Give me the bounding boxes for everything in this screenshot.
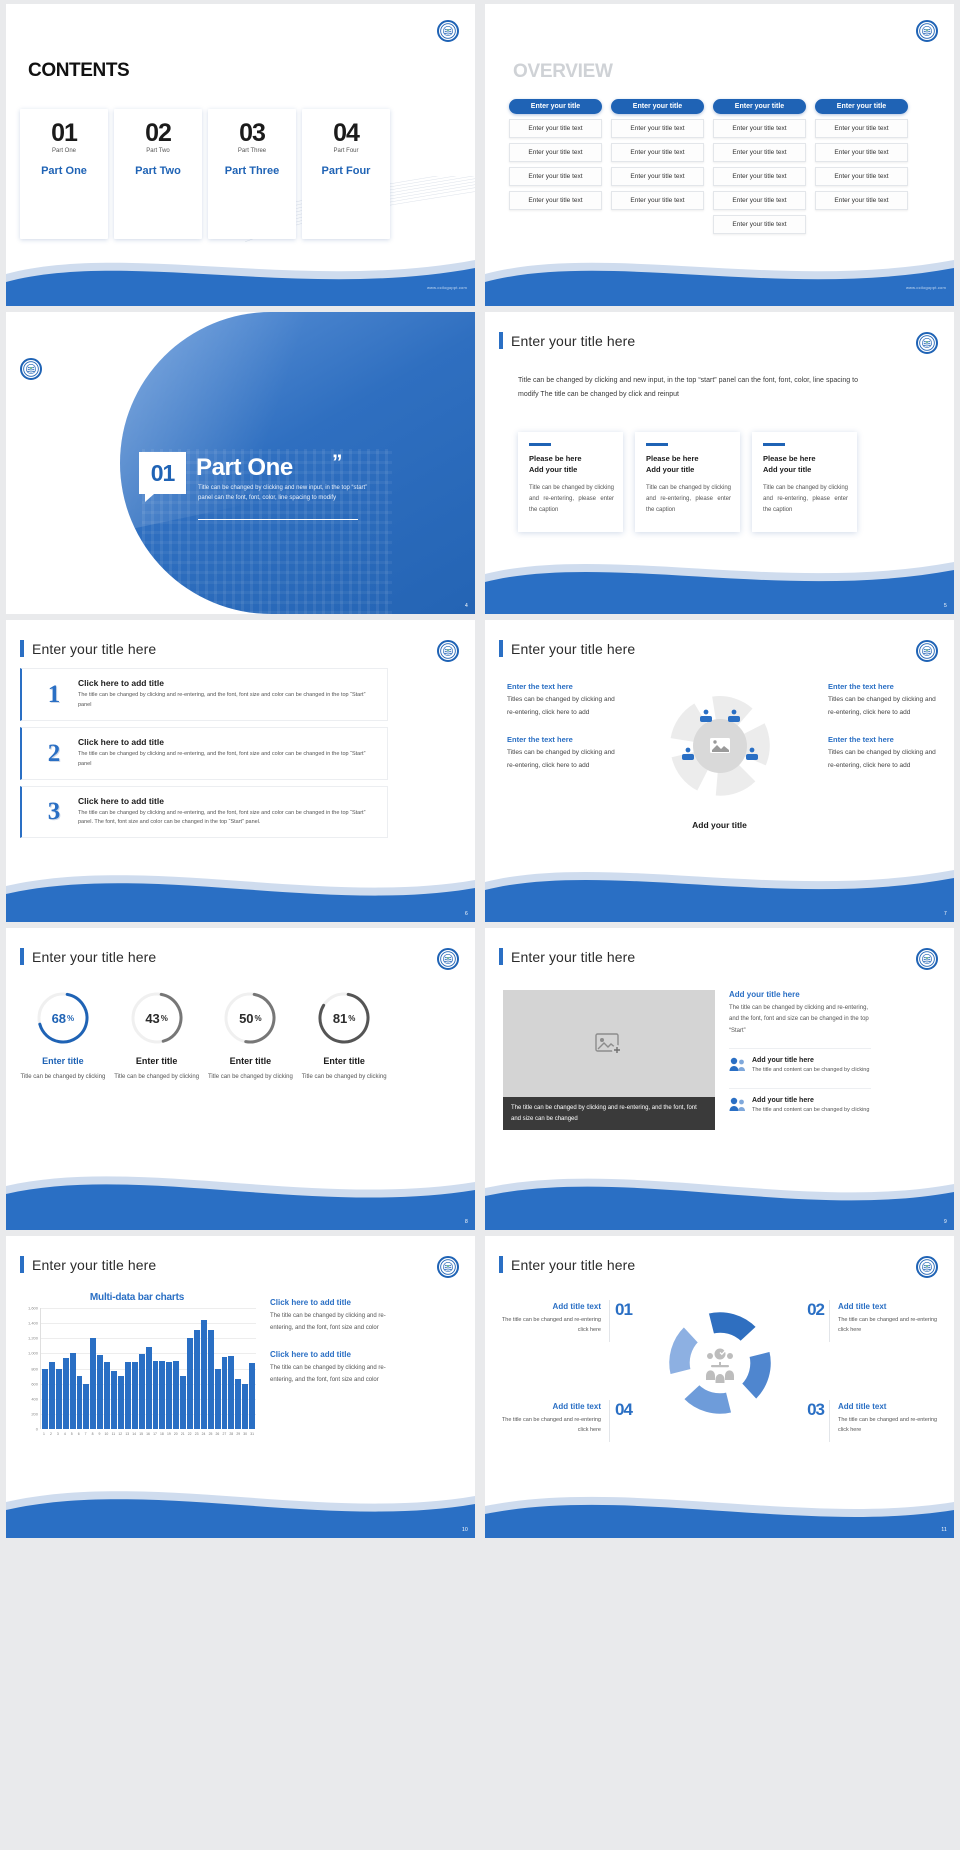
item-number: 3 <box>30 799 78 824</box>
x-tick-label: 14 <box>131 1430 137 1443</box>
card-accent-bar <box>763 443 785 446</box>
page-title: Enter your title here <box>511 641 635 657</box>
cycle-diagram[interactable]: Add title text Add title text Add title … <box>649 1292 791 1434</box>
panel-body: The title can be changed by clicking and… <box>270 1311 390 1334</box>
overview-box[interactable]: Enter your title text <box>611 167 704 186</box>
card-heading-line2: Add your title <box>529 465 577 474</box>
slide-title: Enter your title here <box>499 948 635 965</box>
org-logo-icon <box>437 640 459 662</box>
page-title: Enter your title here <box>511 333 635 349</box>
ring-label: Enter title <box>204 1056 298 1066</box>
quadrant-01-number: 01 <box>615 1300 632 1320</box>
y-tick-label: 1,200 <box>28 1336 38 1341</box>
column-title-pill[interactable]: Enter your title <box>611 99 704 114</box>
org-logo-icon <box>437 20 459 42</box>
list-item[interactable]: 1 Click here to add title The title can … <box>20 668 388 721</box>
page-number: 4 <box>465 603 468 609</box>
card-heading-line1: Please be here <box>646 454 699 463</box>
image-caption: The title can be changed by clicking and… <box>503 1097 715 1130</box>
column-title-pill[interactable]: Enter your title <box>713 99 806 114</box>
overview-box[interactable]: Enter your title text <box>611 119 704 138</box>
feature-card[interactable]: Please be hereAdd your title Title can b… <box>752 432 857 532</box>
wave-decoration <box>485 860 954 922</box>
title-accent-bar <box>499 948 503 965</box>
x-tick-label: 8 <box>90 1430 96 1443</box>
x-tick-label: 5 <box>69 1430 75 1443</box>
card-heading-line1: Please be here <box>763 454 816 463</box>
slide-title: Enter your title here <box>20 640 156 657</box>
card-body: Title can be changed by clicking and re-… <box>529 483 614 516</box>
chart-bar <box>56 1369 62 1430</box>
panel-body: The title can be changed by clicking and… <box>270 1363 390 1386</box>
wave-decoration <box>485 1476 954 1538</box>
card-number: 04 <box>333 121 359 146</box>
list-item[interactable]: 2 Click here to add title The title can … <box>20 727 388 780</box>
chart-x-axis: 1234567891011121314151617181920212223242… <box>40 1430 256 1443</box>
card-subtitle: Part One <box>52 148 76 154</box>
chart-bar <box>139 1354 145 1429</box>
x-tick-label: 10 <box>103 1430 109 1443</box>
chart-bar <box>125 1362 131 1429</box>
page-title: Enter your title here <box>32 641 156 657</box>
list-item[interactable]: 3 Click here to add title The title can … <box>20 786 388 839</box>
part-number-badge: 01 <box>139 452 186 494</box>
card-label: Part Three <box>225 165 279 177</box>
x-tick-label: 11 <box>110 1430 116 1443</box>
chart-bar <box>180 1376 186 1429</box>
x-tick-label: 23 <box>194 1430 200 1443</box>
page-number: 11 <box>941 1527 947 1533</box>
overview-columns: Enter your title Enter your title text E… <box>509 99 908 234</box>
slide-part-divider[interactable]: 01 Part One ” Title can be changed by cl… <box>6 312 475 614</box>
chart-bar <box>90 1338 96 1429</box>
card-label: Part Four <box>322 165 371 177</box>
title-accent-bar <box>499 1256 503 1273</box>
quadrant-03-number: 03 <box>807 1400 824 1420</box>
slide-contents[interactable]: CONTENTS 01 Part One Part One 02 Part Tw… <box>6 4 475 306</box>
overview-box[interactable]: Enter your title text <box>815 119 908 138</box>
person-icon <box>729 1057 746 1077</box>
image-placeholder-icon <box>595 1032 623 1056</box>
item-body: The title can be changed by clicking and… <box>78 809 368 829</box>
org-logo-icon <box>437 948 459 970</box>
y-tick-label: 200 <box>31 1411 38 1416</box>
page-number: 6 <box>465 911 468 917</box>
divider <box>609 1300 610 1342</box>
chart-bar <box>104 1362 110 1429</box>
slide-thumbnail-grid: CONTENTS 01 Part One Part One 02 Part Tw… <box>0 0 960 1850</box>
overview-box[interactable]: Enter your title text <box>509 167 602 186</box>
chart-bar <box>111 1371 117 1429</box>
card-accent-bar <box>646 443 668 446</box>
y-tick-label: 800 <box>31 1366 38 1371</box>
chart-bar <box>146 1347 152 1429</box>
quadrant-heading: Add title text <box>499 1402 601 1411</box>
x-tick-label: 3 <box>55 1430 61 1443</box>
card-list: Please be hereAdd your title Title can b… <box>518 432 857 532</box>
ring-description: Title can be changed by clicking <box>16 1072 110 1083</box>
chart-bar <box>83 1384 89 1429</box>
block-heading: Enter the text here <box>828 735 936 744</box>
card-number: 02 <box>145 121 171 146</box>
quadrant-heading: Add title text <box>838 1402 940 1411</box>
overview-box[interactable]: Enter your title text <box>815 167 908 186</box>
x-tick-label: 28 <box>228 1430 234 1443</box>
overview-box[interactable]: Enter your title text <box>713 191 806 210</box>
quadrant-body: The title can be changed and re-entering… <box>838 1315 940 1335</box>
numbered-row-list: 1 Click here to add title The title can … <box>20 668 388 844</box>
contents-card[interactable]: 02 Part Two Part Two <box>114 109 202 239</box>
chart-bar <box>235 1379 241 1429</box>
org-logo-icon <box>916 332 938 354</box>
chart-bar <box>42 1369 48 1429</box>
card-body: Title can be changed by clicking and re-… <box>763 483 848 516</box>
percent-ring-item[interactable]: 50% Enter title Title can be changed by … <box>204 990 298 1083</box>
x-tick-label: 22 <box>187 1430 193 1443</box>
slide-cycle-diagram[interactable]: Enter your title here Add title text The… <box>485 1236 954 1538</box>
x-tick-label: 25 <box>208 1430 214 1443</box>
title-accent-bar <box>20 948 24 965</box>
divider <box>609 1400 610 1442</box>
left-text-column: Enter the text here Titles can be change… <box>507 682 615 789</box>
overview-box[interactable]: Enter your title text <box>815 143 908 162</box>
x-tick-label: 31 <box>249 1430 255 1443</box>
quadrant-body: The title can be changed and re-entering… <box>838 1415 940 1435</box>
x-tick-label: 21 <box>180 1430 186 1443</box>
x-tick-label: 17 <box>152 1430 158 1443</box>
slide-three-cards[interactable]: Enter your title here Title can be chang… <box>485 312 954 614</box>
x-tick-label: 26 <box>214 1430 220 1443</box>
footer-url: www.ocilogoppt.com <box>427 285 467 290</box>
chart-bar <box>97 1355 103 1429</box>
text-block[interactable]: Enter the text here Titles can be change… <box>507 682 615 719</box>
wave-decoration <box>6 1168 475 1230</box>
chart-plot-area <box>40 1308 256 1429</box>
ring-description: Title can be changed by clicking <box>204 1072 298 1083</box>
org-logo-icon <box>437 1256 459 1278</box>
x-tick-label: 13 <box>124 1430 130 1443</box>
overview-box[interactable]: Enter your title text <box>713 143 806 162</box>
percent-ring-item[interactable]: 43% Enter title Title can be changed by … <box>110 990 204 1083</box>
part-title: Part One <box>196 454 293 482</box>
chart-bar <box>132 1362 138 1429</box>
quadrant-04-text[interactable]: Add title text The title can be changed … <box>499 1402 601 1435</box>
page-title: Enter your title here <box>511 1257 635 1273</box>
org-logo-icon <box>916 640 938 662</box>
overview-box[interactable]: Enter your title text <box>713 119 806 138</box>
x-tick-label: 19 <box>166 1430 172 1443</box>
card-label: Part One <box>41 165 87 177</box>
overview-box[interactable]: Enter your title text <box>713 215 806 234</box>
block-heading: Enter the text here <box>507 735 615 744</box>
x-tick-label: 1 <box>41 1430 47 1443</box>
wheel-caption: Add your title <box>692 820 747 830</box>
org-logo-icon <box>916 20 938 42</box>
x-tick-label: 9 <box>97 1430 103 1443</box>
ring-label: Enter title <box>297 1056 391 1066</box>
column-title-pill[interactable]: Enter your title <box>509 99 602 114</box>
slide-title: Enter your title here <box>499 332 635 349</box>
list-item[interactable]: Add your title here The title and conten… <box>729 1048 871 1077</box>
quote-glyph-icon: ” <box>332 451 343 475</box>
chart-bar <box>208 1330 214 1429</box>
y-tick-label: 400 <box>31 1396 38 1401</box>
wave-decoration <box>6 1476 475 1538</box>
percent-ring-item[interactable]: 81% Enter title Title can be changed by … <box>297 990 391 1083</box>
item-heading: Add your title here <box>752 1097 869 1104</box>
item-number: 1 <box>30 682 78 707</box>
chart-bar <box>159 1361 165 1429</box>
feature-card[interactable]: Please be hereAdd your title Title can b… <box>518 432 623 532</box>
bar-chart[interactable]: Multi-data bar charts 02004006008001,000… <box>18 1292 256 1467</box>
y-tick-label: 600 <box>31 1381 38 1386</box>
quadrant-03-text[interactable]: Add title text The title can be changed … <box>838 1402 940 1435</box>
chart-bar <box>70 1353 76 1429</box>
card-accent-bar <box>529 443 551 446</box>
slide-percent-rings[interactable]: Enter your title here 68% Enter title Ti… <box>6 928 475 1230</box>
quadrant-02-text[interactable]: Add title text The title can be changed … <box>838 1302 940 1335</box>
chart-bars <box>41 1308 256 1429</box>
chart-bar <box>249 1363 255 1429</box>
panel-heading: Click here to add title <box>270 1298 390 1307</box>
slide-title: Enter your title here <box>499 640 635 657</box>
wave-decoration <box>6 860 475 922</box>
slide-bar-chart[interactable]: Enter your title here Multi-data bar cha… <box>6 1236 475 1538</box>
overview-box[interactable]: Enter your title text <box>815 191 908 210</box>
page-title: Enter your title here <box>511 949 635 965</box>
overview-box[interactable]: Enter your title text <box>611 143 704 162</box>
slide-title: Enter your title here <box>20 1256 156 1273</box>
title-accent-bar <box>499 640 503 657</box>
divider <box>829 1300 830 1342</box>
ring-value: 81 <box>333 1011 347 1026</box>
chart-y-axis: 02004006008001,0001,2001,4001,600 <box>18 1308 40 1429</box>
slide-segment-wheel[interactable]: Enter your title here Enter the text her… <box>485 620 954 922</box>
contents-heading: CONTENTS <box>28 60 129 82</box>
x-tick-label: 15 <box>138 1430 144 1443</box>
right-panel: Add your title here The title can be cha… <box>729 990 871 1117</box>
block-body: Titles can be changed by clicking and re… <box>828 747 936 772</box>
slide-image-and-list[interactable]: Enter your title here The title can be c… <box>485 928 954 1230</box>
page-title: Enter your title here <box>32 1257 156 1273</box>
quadrant-02-number: 02 <box>807 1300 824 1320</box>
card-subtitle: Part Three <box>238 148 266 154</box>
divider-rule <box>198 519 358 520</box>
card-heading-line2: Add your title <box>763 465 811 474</box>
item-body: The title and content can be changed by … <box>752 1106 869 1116</box>
chart-bar <box>242 1384 248 1429</box>
overview-column: Enter your title Enter your title text E… <box>713 99 806 234</box>
item-heading: Click here to add title <box>78 796 368 806</box>
contents-card[interactable]: 04 Part Four Part Four <box>302 109 390 239</box>
block-body: Titles can be changed by clicking and re… <box>507 694 615 719</box>
x-tick-label: 7 <box>83 1430 89 1443</box>
intro-paragraph: Title can be changed by clicking and new… <box>518 374 858 402</box>
right-text-panel: Click here to add title The title can be… <box>270 1298 390 1403</box>
item-body: The title can be changed by clicking and… <box>78 750 368 770</box>
chart-bar <box>201 1320 207 1429</box>
page-number: 9 <box>944 1219 947 1225</box>
overview-column: Enter your title Enter your title text E… <box>509 99 602 234</box>
quadrant-heading: Add title text <box>838 1302 940 1311</box>
x-tick-label: 12 <box>117 1430 123 1443</box>
item-heading: Click here to add title <box>78 737 368 747</box>
list-item[interactable]: Add your title here The title and conten… <box>729 1088 871 1117</box>
percent-ring-item[interactable]: 68% Enter title Title can be changed by … <box>16 990 110 1083</box>
slide-title: Enter your title here <box>20 948 156 965</box>
card-subtitle: Part Two <box>146 148 170 154</box>
panel-heading: Click here to add title <box>270 1350 390 1359</box>
y-tick-label: 0 <box>36 1427 38 1432</box>
ring-value: 68 <box>52 1011 66 1026</box>
wave-decoration <box>485 1168 954 1230</box>
block-body: Titles can be changed by clicking and re… <box>507 747 615 772</box>
slide-numbered-list[interactable]: Enter your title here 1 Click here to ad… <box>6 620 475 922</box>
overview-column: Enter your title Enter your title text E… <box>611 99 704 234</box>
item-heading: Click here to add title <box>78 678 368 688</box>
block-body: Titles can be changed by clicking and re… <box>828 694 936 719</box>
ring-value: 50 <box>239 1011 253 1026</box>
quadrant-01-text[interactable]: Add title text The title can be changed … <box>499 1302 601 1335</box>
card-label: Part Two <box>135 165 181 177</box>
wave-decoration <box>485 552 954 614</box>
text-block[interactable]: Enter the text here Titles can be change… <box>828 682 936 719</box>
card-heading-line1: Please be here <box>529 454 582 463</box>
x-tick-label: 27 <box>221 1430 227 1443</box>
overview-box[interactable]: Enter your title text <box>509 119 602 138</box>
quadrant-heading: Add title text <box>499 1302 601 1311</box>
person-icon <box>729 1097 746 1117</box>
org-logo-icon <box>916 1256 938 1278</box>
ring-label: Enter title <box>16 1056 110 1066</box>
card-heading-line2: Add your title <box>646 465 694 474</box>
ring-value: 43 <box>145 1011 159 1026</box>
title-accent-bar <box>499 332 503 349</box>
x-tick-label: 6 <box>76 1430 82 1443</box>
chart-bar <box>153 1361 159 1429</box>
title-accent-bar <box>20 1256 24 1273</box>
x-tick-label: 20 <box>173 1430 179 1443</box>
title-accent-bar <box>20 640 24 657</box>
segment-wheel-diagram[interactable] <box>662 688 778 804</box>
slide-overview[interactable]: OVERVIEW Enter your title Enter your tit… <box>485 4 954 306</box>
card-number: 01 <box>51 121 77 146</box>
overview-box[interactable]: Enter your title text <box>611 191 704 210</box>
x-tick-label: 29 <box>235 1430 241 1443</box>
wave-decoration <box>6 244 475 306</box>
chart-bar <box>63 1358 69 1429</box>
panel-heading: Add your title here <box>729 990 871 999</box>
org-logo-icon <box>20 358 42 380</box>
item-number: 2 <box>30 741 78 766</box>
quadrant-body: The title can be changed and re-entering… <box>499 1415 601 1435</box>
slide-title: Enter your title here <box>499 1256 635 1273</box>
page-number: 8 <box>465 1219 468 1225</box>
text-block[interactable]: Enter the text here Titles can be change… <box>828 735 936 772</box>
quadrant-body: The title can be changed and re-entering… <box>499 1315 601 1335</box>
page-title: Enter your title here <box>32 949 156 965</box>
x-tick-label: 24 <box>201 1430 207 1443</box>
image-placeholder[interactable] <box>503 990 715 1097</box>
x-tick-label: 2 <box>48 1430 54 1443</box>
contents-card[interactable]: 01 Part One Part One <box>20 109 108 239</box>
page-number: 7 <box>944 911 947 917</box>
part-description: Title can be changed by clicking and new… <box>198 484 373 504</box>
chart-title: Multi-data bar charts <box>18 1292 256 1303</box>
item-body: The title and content can be changed by … <box>752 1066 869 1076</box>
org-logo-icon <box>916 948 938 970</box>
chart-bar <box>228 1356 234 1429</box>
x-tick-label: 4 <box>62 1430 68 1443</box>
contents-card[interactable]: 03 Part Three Part Three <box>208 109 296 239</box>
ring-label: Enter title <box>110 1056 204 1066</box>
item-body: The title can be changed by clicking and… <box>78 691 368 711</box>
x-tick-label: 30 <box>242 1430 248 1443</box>
chart-bar <box>166 1362 172 1429</box>
chart-bar <box>118 1376 124 1429</box>
item-heading: Add your title here <box>752 1057 869 1064</box>
footer-url: www.ocilogoppt.com <box>906 285 946 290</box>
overview-column: Enter your title Enter your title text E… <box>815 99 908 234</box>
overview-heading: OVERVIEW <box>513 61 613 83</box>
card-number: 03 <box>239 121 265 146</box>
card-body: Title can be changed by clicking and re-… <box>646 483 731 516</box>
feature-card[interactable]: Please be hereAdd your title Title can b… <box>635 432 740 532</box>
y-tick-label: 1,000 <box>28 1351 38 1356</box>
overview-box[interactable]: Enter your title text <box>509 143 602 162</box>
card-subtitle: Part Four <box>333 148 358 154</box>
x-tick-label: 16 <box>145 1430 151 1443</box>
block-heading: Enter the text here <box>507 682 615 691</box>
page-number: 10 <box>462 1527 468 1533</box>
panel-intro: The title can be changed by clicking and… <box>729 1003 871 1037</box>
chart-bar <box>187 1338 193 1429</box>
block-heading: Enter the text here <box>828 682 936 691</box>
y-tick-label: 1,400 <box>28 1321 38 1326</box>
overview-box[interactable]: Enter your title text <box>509 191 602 210</box>
chart-bar <box>173 1361 179 1429</box>
text-block[interactable]: Enter the text here Titles can be change… <box>507 735 615 772</box>
ring-description: Title can be changed by clicking <box>297 1072 391 1083</box>
y-tick-label: 1,600 <box>28 1306 38 1311</box>
chart-bar <box>49 1362 55 1429</box>
page-number: 5 <box>944 603 947 609</box>
overview-box[interactable]: Enter your title text <box>713 167 806 186</box>
wave-decoration <box>485 244 954 306</box>
contents-card-list: 01 Part One Part One 02 Part Two Part Tw… <box>20 109 390 239</box>
chart-bar <box>77 1376 83 1429</box>
divider <box>829 1400 830 1442</box>
chart-bar <box>215 1369 221 1430</box>
chart-bar <box>194 1330 200 1429</box>
percent-ring-list: 68% Enter title Title can be changed by … <box>16 990 391 1083</box>
right-text-column: Enter the text here Titles can be change… <box>828 682 936 789</box>
quadrant-04-number: 04 <box>615 1400 632 1420</box>
x-tick-label: 18 <box>159 1430 165 1443</box>
ring-description: Title can be changed by clicking <box>110 1072 204 1083</box>
chart-bar <box>222 1357 228 1429</box>
column-title-pill[interactable]: Enter your title <box>815 99 908 114</box>
